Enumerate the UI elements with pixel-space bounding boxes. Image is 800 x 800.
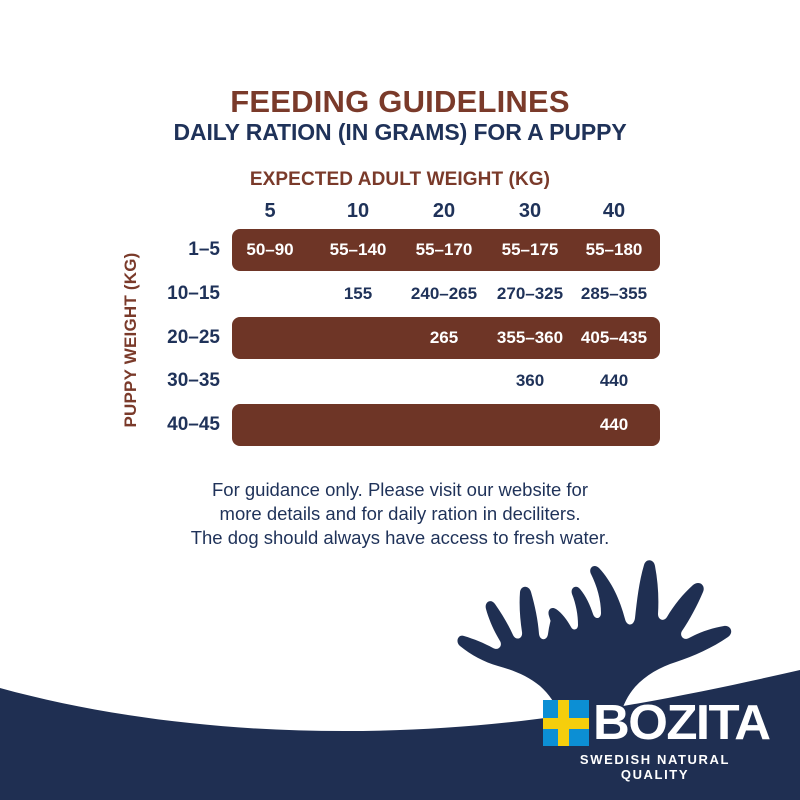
table-cell: 265 — [396, 316, 492, 360]
column-header-10: 10 — [310, 196, 406, 226]
column-header-20: 20 — [396, 196, 492, 226]
column-header-40: 40 — [566, 196, 662, 226]
moose-antler-icon — [457, 560, 731, 716]
bozita-logo: BOZITA SWEDISH NATURAL QUALITY — [543, 700, 765, 772]
row-label: 20–25 — [150, 316, 220, 360]
logo-wordmark: BOZITA — [593, 695, 770, 751]
table-cell: 440 — [566, 359, 662, 403]
table-row: 1–5 50–90 55–140 55–170 55–175 55–180 — [0, 228, 800, 272]
column-axis-title: EXPECTED ADULT WEIGHT (KG) — [0, 169, 800, 191]
table-cell: 360 — [482, 359, 578, 403]
table-row: 10–15 155 240–265 270–325 285–355 — [0, 272, 800, 316]
table-cell: 285–355 — [566, 272, 662, 316]
table-cell: 55–170 — [396, 228, 492, 272]
feeding-table: 5 10 20 30 40 1–5 50–90 55–140 55–170 55… — [0, 196, 800, 226]
row-label: 10–15 — [150, 272, 220, 316]
table-cell: 55–175 — [482, 228, 578, 272]
table-cell: 440 — [566, 403, 662, 447]
column-header-5: 5 — [222, 196, 318, 226]
table-row: 30–35 360 440 — [0, 359, 800, 403]
table-cell: 405–435 — [566, 316, 662, 360]
row-label: 1–5 — [150, 228, 220, 272]
table-row: 40–45 440 — [0, 403, 800, 447]
page-title: FEEDING GUIDELINES — [0, 84, 800, 120]
row-label: 40–45 — [150, 403, 220, 447]
table-row: 20–25 265 355–360 405–435 — [0, 316, 800, 360]
table-header-row: 5 10 20 30 40 — [0, 196, 800, 226]
flag-cross-horizontal — [543, 718, 589, 729]
logo-tagline: SWEDISH NATURAL QUALITY — [544, 752, 766, 782]
table-cell: 55–140 — [310, 228, 406, 272]
table-cell: 270–325 — [482, 272, 578, 316]
table-cell: 55–180 — [566, 228, 662, 272]
page-subtitle: DAILY RATION (IN GRAMS) FOR A PUPPY — [0, 119, 800, 146]
swedish-flag-icon — [543, 700, 589, 746]
column-header-30: 30 — [482, 196, 578, 226]
table-cell: 155 — [310, 272, 406, 316]
row-label: 30–35 — [150, 359, 220, 403]
table-cell: 50–90 — [222, 228, 318, 272]
disclaimer-line-1: For guidance only. Please visit our webs… — [0, 478, 800, 502]
table-cell: 355–360 — [482, 316, 578, 360]
table-cell: 240–265 — [396, 272, 492, 316]
feeding-guidelines-infographic: FEEDING GUIDELINES DAILY RATION (IN GRAM… — [0, 0, 800, 800]
